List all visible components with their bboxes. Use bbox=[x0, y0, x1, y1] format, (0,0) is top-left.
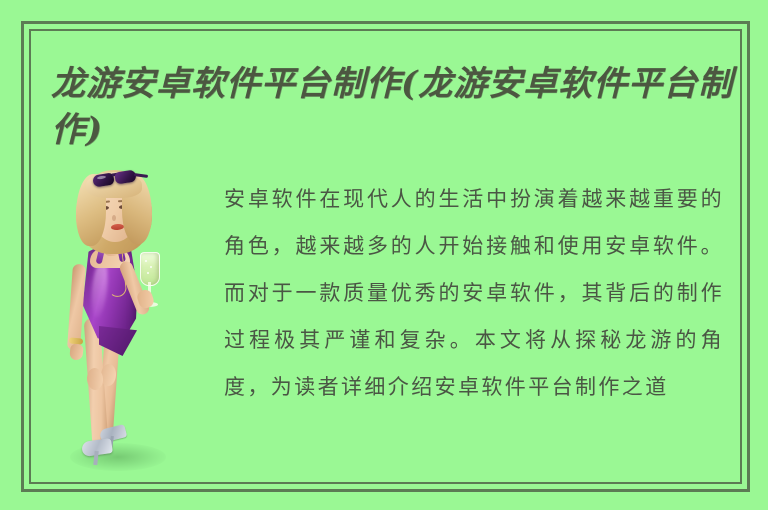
article-body-paragraph: 安卓软件在现代人的生活中扮演着越来越重要的角色，越来越多的人开始接触和使用安卓软… bbox=[224, 176, 724, 411]
champagne-bubble bbox=[147, 272, 149, 274]
page-title: 龙游安卓软件平台制作(龙游安卓软件平台制作) bbox=[51, 61, 743, 153]
champagne-bubble bbox=[145, 260, 147, 262]
nose bbox=[112, 215, 116, 221]
article-card: 龙游安卓软件平台制作(龙游安卓软件平台制作) bbox=[0, 0, 768, 510]
champagne-bubble bbox=[150, 266, 152, 268]
hand-left bbox=[69, 343, 84, 360]
champagne-glass-bowl bbox=[140, 252, 160, 286]
illustration-cartoon-woman bbox=[52, 168, 198, 484]
